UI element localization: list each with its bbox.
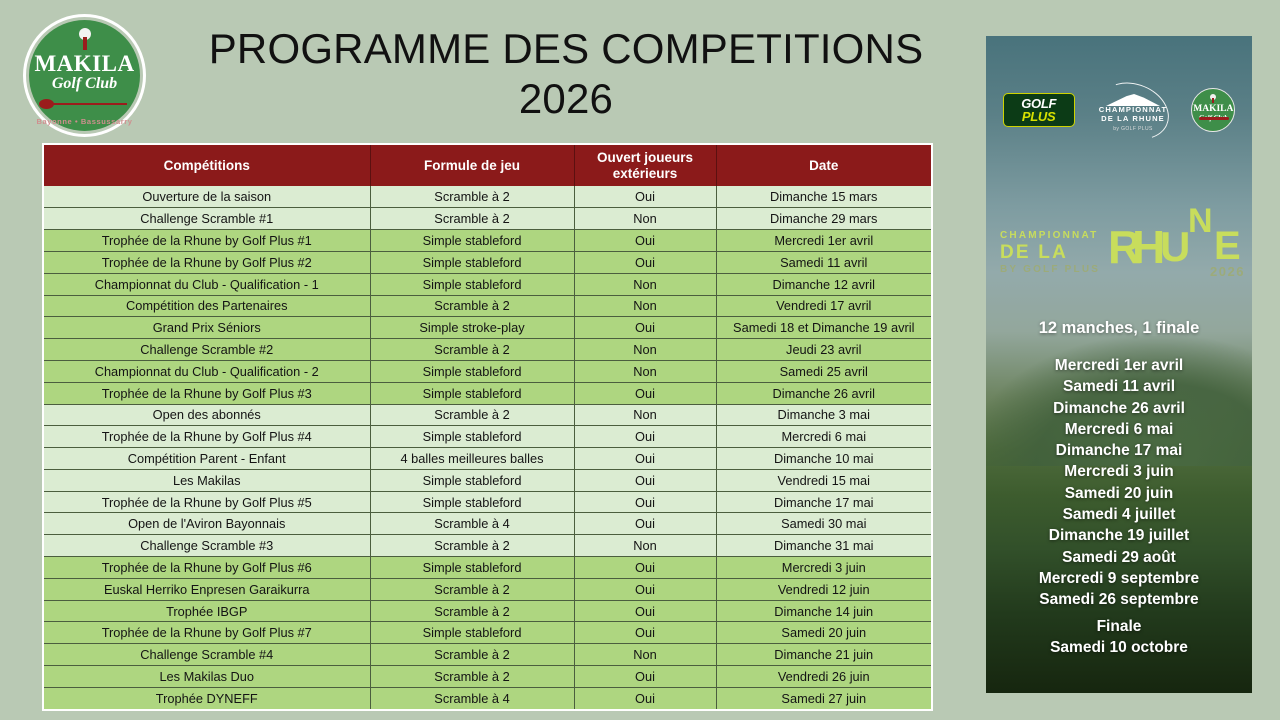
championnat-de-la-rhune-poster: GOLF PLUS CHAMPIONNAT DE LA RHUNE by GOL…	[986, 36, 1252, 693]
cell-ouvert: Oui	[574, 600, 716, 622]
cell-date: Dimanche 17 mai	[716, 491, 931, 513]
cell-ouvert: Oui	[574, 251, 716, 273]
table-row: Trophée de la Rhune by Golf Plus #4Simpl…	[44, 426, 931, 448]
cell-date: Dimanche 26 avril	[716, 382, 931, 404]
cell-competition: Les Makilas	[44, 469, 370, 491]
table-row: Challenge Scramble #3Scramble à 2NonDima…	[44, 535, 931, 557]
cell-ouvert: Oui	[574, 230, 716, 252]
table-row: Championnat du Club - Qualification - 2S…	[44, 360, 931, 382]
cell-formule: Simple stableford	[370, 557, 574, 579]
cell-competition: Trophée de la Rhune by Golf Plus #1	[44, 230, 370, 252]
golf-plus-logo-top: GOLF	[1021, 98, 1056, 110]
cell-formule: Scramble à 4	[370, 513, 574, 535]
poster-date-item: Dimanche 17 mai	[986, 440, 1252, 461]
cell-ouvert: Non	[574, 360, 716, 382]
table-row: Les MakilasSimple stablefordOuiVendredi …	[44, 469, 931, 491]
cell-formule: Scramble à 2	[370, 295, 574, 317]
logo-town-line: Bayonne • Bassussarry	[23, 117, 146, 126]
poster-date-item: Samedi 26 septembre	[986, 589, 1252, 610]
cell-formule: Scramble à 4	[370, 687, 574, 709]
poster-final-date: Samedi 10 octobre	[986, 637, 1252, 658]
cell-competition: Open des abonnés	[44, 404, 370, 426]
cell-ouvert: Oui	[574, 469, 716, 491]
cell-ouvert: Oui	[574, 666, 716, 688]
cell-date: Samedi 11 avril	[716, 251, 931, 273]
cell-date: Samedi 30 mai	[716, 513, 931, 535]
golf-ball-on-tee-icon	[77, 28, 93, 50]
poster-date-item: Samedi 20 juin	[986, 483, 1252, 504]
cell-ouvert: Oui	[574, 448, 716, 470]
cell-competition: Trophée de la Rhune by Golf Plus #2	[44, 251, 370, 273]
cell-competition: Challenge Scramble #1	[44, 208, 370, 230]
cell-competition: Grand Prix Séniors	[44, 317, 370, 339]
table-row: Open de l'Aviron BayonnaisScramble à 4Ou…	[44, 513, 931, 535]
table-row: Ouverture de la saisonScramble à 2OuiDim…	[44, 186, 931, 208]
cell-ouvert: Non	[574, 404, 716, 426]
mini-tee-icon	[1212, 98, 1214, 103]
badge-line1: CHAMPIONNAT	[1099, 105, 1168, 114]
championnat-de-la-rhune-badge: CHAMPIONNAT DE LA RHUNE by GOLF PLUS	[1092, 82, 1174, 138]
cell-competition: Trophée de la Rhune by Golf Plus #6	[44, 557, 370, 579]
cell-ouvert: Oui	[574, 317, 716, 339]
cell-competition: Trophée de la Rhune by Golf Plus #7	[44, 622, 370, 644]
cell-competition: Challenge Scramble #2	[44, 339, 370, 361]
rhune-wordmark-year: 2026	[1210, 264, 1245, 279]
cell-date: Dimanche 31 mai	[716, 535, 931, 557]
table-row: Challenge Scramble #1Scramble à 2NonDima…	[44, 208, 931, 230]
cell-formule: Scramble à 2	[370, 208, 574, 230]
cell-formule: Simple stableford	[370, 622, 574, 644]
cell-competition: Compétition des Partenaires	[44, 295, 370, 317]
logo-club-subtitle: Golf Club	[23, 76, 146, 92]
cell-formule: Scramble à 2	[370, 186, 574, 208]
cell-competition: Challenge Scramble #4	[44, 644, 370, 666]
cell-formule: Scramble à 2	[370, 600, 574, 622]
poster-date-item: Mercredi 9 septembre	[986, 568, 1252, 589]
table-row: Trophée de la Rhune by Golf Plus #1Simpl…	[44, 230, 931, 252]
page-title-line1: PROGRAMME DES COMPETITIONS	[190, 24, 942, 74]
cell-competition: Open de l'Aviron Bayonnais	[44, 513, 370, 535]
rhune-wordmark-line2: DE LA	[1000, 242, 1110, 263]
page-title: PROGRAMME DES COMPETITIONS 2026	[190, 24, 942, 125]
cell-ouvert: Oui	[574, 513, 716, 535]
cell-formule: Scramble à 2	[370, 404, 574, 426]
cell-ouvert: Oui	[574, 687, 716, 709]
poster-sponsor-logo-row: GOLF PLUS CHAMPIONNAT DE LA RHUNE by GOL…	[986, 80, 1252, 140]
cell-competition: Trophée DYNEFF	[44, 687, 370, 709]
cell-date: Mercredi 6 mai	[716, 426, 931, 448]
cell-date: Dimanche 15 mars	[716, 186, 931, 208]
rhune-letter-n: N	[1188, 204, 1214, 238]
cell-date: Mercredi 1er avril	[716, 230, 931, 252]
cell-ouvert: Non	[574, 644, 716, 666]
table-row: Trophée de la Rhune by Golf Plus #2Simpl…	[44, 251, 931, 273]
cell-date: Dimanche 3 mai	[716, 404, 931, 426]
cell-formule: Simple stableford	[370, 360, 574, 382]
cell-formule: 4 balles meilleures balles	[370, 448, 574, 470]
table-row: Championnat du Club - Qualification - 1S…	[44, 273, 931, 295]
table-row: Trophée IBGPScramble à 2OuiDimanche 14 j…	[44, 600, 931, 622]
rhune-wordmark-line1: CHAMPIONNAT	[1000, 230, 1110, 242]
cell-formule: Simple stableford	[370, 426, 574, 448]
table-row: Trophée de la Rhune by Golf Plus #5Simpl…	[44, 491, 931, 513]
logo-club-name: MAKILA	[23, 52, 146, 75]
mini-golf-club-icon	[1199, 117, 1229, 120]
rhune-letter-e: E	[1214, 226, 1242, 266]
cell-competition: Trophée IBGP	[44, 600, 370, 622]
poster-date-item: Dimanche 19 juillet	[986, 525, 1252, 546]
cell-date: Jeudi 23 avril	[716, 339, 931, 361]
cell-competition: Euskal Herriko Enpresen Garaikurra	[44, 578, 370, 600]
cell-date: Samedi 20 juin	[716, 622, 931, 644]
column-header-formule: Formule de jeu	[370, 145, 574, 186]
cell-formule: Simple stableford	[370, 273, 574, 295]
table-row: Challenge Scramble #4Scramble à 2NonDima…	[44, 644, 931, 666]
cell-date: Mercredi 3 juin	[716, 557, 931, 579]
cell-formule: Scramble à 2	[370, 666, 574, 688]
table-body: Ouverture de la saisonScramble à 2OuiDim…	[44, 186, 931, 709]
cell-date: Samedi 25 avril	[716, 360, 931, 382]
golf-plus-logo: GOLF PLUS	[1003, 93, 1075, 127]
table-row: Trophée de la Rhune by Golf Plus #7Simpl…	[44, 622, 931, 644]
makila-golf-club-mini-logo: MAKILA Golf Club	[1191, 88, 1235, 132]
cell-formule: Scramble à 2	[370, 535, 574, 557]
rhune-letter-u: U	[1160, 226, 1191, 268]
poster-date-item: Samedi 29 août	[986, 547, 1252, 568]
cell-date: Vendredi 15 mai	[716, 469, 931, 491]
table-row: Challenge Scramble #2Scramble à 2NonJeud…	[44, 339, 931, 361]
column-header-date: Date	[716, 145, 931, 186]
table-row: Open des abonnésScramble à 2NonDimanche …	[44, 404, 931, 426]
cell-competition: Challenge Scramble #3	[44, 535, 370, 557]
cell-formule: Scramble à 2	[370, 644, 574, 666]
table-row: Trophée de la Rhune by Golf Plus #6Simpl…	[44, 557, 931, 579]
poster-date-item: Mercredi 3 juin	[986, 461, 1252, 482]
cell-ouvert: Non	[574, 295, 716, 317]
poster-final-label: Finale	[986, 616, 1252, 637]
cell-competition: Trophée de la Rhune by Golf Plus #5	[44, 491, 370, 513]
poster-date-item: Mercredi 6 mai	[986, 419, 1252, 440]
poster-date-item: Dimanche 26 avril	[986, 398, 1252, 419]
mini-logo-name: MAKILA	[1193, 104, 1233, 114]
cell-ouvert: Non	[574, 339, 716, 361]
rhune-wordmark-small-text: CHAMPIONNAT DE LA BY GOLF PLUS	[1000, 230, 1110, 276]
table-row: Les Makilas DuoScramble à 2OuiVendredi 2…	[44, 666, 931, 688]
cell-date: Vendredi 17 avril	[716, 295, 931, 317]
column-header-competitions: Compétitions	[44, 145, 370, 186]
cell-date: Dimanche 14 juin	[716, 600, 931, 622]
cell-competition: Championnat du Club - Qualification - 2	[44, 360, 370, 382]
cell-ouvert: Oui	[574, 557, 716, 579]
makila-golf-club-logo: MAKILA Golf Club Bayonne • Bassussarry	[23, 14, 146, 137]
page-title-line2: 2026	[190, 74, 942, 124]
column-header-ouvert-joueurs-exterieurs: Ouvert joueurs extérieurs	[574, 145, 716, 186]
cell-formule: Simple stableford	[370, 469, 574, 491]
cell-competition: Les Makilas Duo	[44, 666, 370, 688]
cell-date: Dimanche 21 juin	[716, 644, 931, 666]
table-row: Grand Prix SéniorsSimple stroke-playOuiS…	[44, 317, 931, 339]
cell-ouvert: Non	[574, 273, 716, 295]
poster-date-item: Samedi 4 juillet	[986, 504, 1252, 525]
cell-date: Dimanche 12 avril	[716, 273, 931, 295]
cell-ouvert: Oui	[574, 491, 716, 513]
cell-date: Vendredi 26 juin	[716, 666, 931, 688]
cell-formule: Scramble à 2	[370, 578, 574, 600]
competition-schedule-table-wrapper: Compétitions Formule de jeu Ouvert joueu…	[42, 143, 933, 711]
cell-date: Samedi 18 et Dimanche 19 avril	[716, 317, 931, 339]
cell-ouvert: Oui	[574, 578, 716, 600]
poster-tagline: 12 manches, 1 finale	[986, 319, 1252, 338]
golf-plus-logo-bottom: PLUS	[1022, 110, 1055, 123]
competition-schedule-table: Compétitions Formule de jeu Ouvert joueu…	[44, 145, 931, 709]
badge-line3: by GOLF PLUS	[1113, 126, 1153, 132]
cell-date: Vendredi 12 juin	[716, 578, 931, 600]
cell-ouvert: Oui	[574, 382, 716, 404]
golf-club-icon	[39, 99, 129, 109]
table-row: Trophée de la Rhune by Golf Plus #3Simpl…	[44, 382, 931, 404]
cell-ouvert: Oui	[574, 426, 716, 448]
table-row: Compétition des PartenairesScramble à 2N…	[44, 295, 931, 317]
poster-date-item: Mercredi 1er avril	[986, 355, 1252, 376]
cell-formule: Simple stableford	[370, 230, 574, 252]
rhune-wordmark-line3: BY GOLF PLUS	[1000, 263, 1110, 276]
cell-ouvert: Oui	[574, 622, 716, 644]
cell-date: Dimanche 29 mars	[716, 208, 931, 230]
poster-date-list: Mercredi 1er avrilSamedi 11 avrilDimanch…	[986, 355, 1252, 611]
badge-line2: DE LA RHUNE	[1101, 114, 1165, 123]
poster-final-block: Finale Samedi 10 octobre	[986, 616, 1252, 659]
table-row: Compétition Parent - Enfant4 balles meil…	[44, 448, 931, 470]
cell-ouvert: Non	[574, 208, 716, 230]
cell-formule: Scramble à 2	[370, 339, 574, 361]
table-row: Trophée DYNEFFScramble à 4OuiSamedi 27 j…	[44, 687, 931, 709]
poster-date-item: Samedi 11 avril	[986, 376, 1252, 397]
cell-date: Samedi 27 juin	[716, 687, 931, 709]
cell-competition: Championnat du Club - Qualification - 1	[44, 273, 370, 295]
cell-competition: Trophée de la Rhune by Golf Plus #3	[44, 382, 370, 404]
cell-formule: Simple stableford	[370, 491, 574, 513]
cell-formule: Simple stableford	[370, 251, 574, 273]
cell-ouvert: Oui	[574, 186, 716, 208]
rhune-wordmark: CHAMPIONNAT DE LA BY GOLF PLUS R H U N E…	[994, 202, 1244, 292]
cell-competition: Ouverture de la saison	[44, 186, 370, 208]
cell-formule: Simple stableford	[370, 382, 574, 404]
cell-competition: Compétition Parent - Enfant	[44, 448, 370, 470]
table-row: Euskal Herriko Enpresen GaraikurraScramb…	[44, 578, 931, 600]
table-header-row: Compétitions Formule de jeu Ouvert joueu…	[44, 145, 931, 186]
cell-date: Dimanche 10 mai	[716, 448, 931, 470]
table-header: Compétitions Formule de jeu Ouvert joueu…	[44, 145, 931, 186]
cell-formule: Simple stroke-play	[370, 317, 574, 339]
cell-ouvert: Non	[574, 535, 716, 557]
cell-competition: Trophée de la Rhune by Golf Plus #4	[44, 426, 370, 448]
